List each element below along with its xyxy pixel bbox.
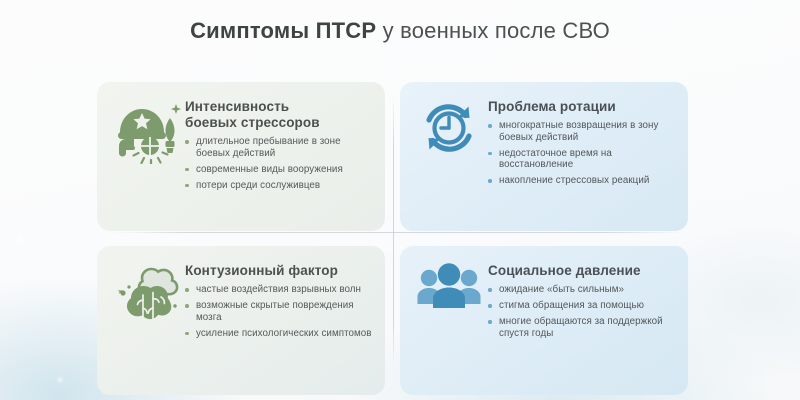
card-concussion[interactable]: Контузионный фактор частые воздействия в… bbox=[97, 246, 385, 395]
list-item: многие обращаются за поддержкой спустя г… bbox=[488, 316, 678, 339]
list-item: усиление психологических симптомов bbox=[185, 328, 375, 340]
card-social-pressure[interactable]: Социальное давление ожидание «быть сильн… bbox=[400, 246, 688, 395]
list-item: ожидание «быть сильным» bbox=[488, 284, 678, 296]
list-item: частые воздействия взрывных волн bbox=[185, 284, 375, 296]
page-title-rest: у военных после СВО bbox=[376, 18, 610, 43]
bullet-list: длительное пребывание в зоне боевых дейс… bbox=[185, 136, 375, 191]
military-helmet-icon bbox=[107, 92, 185, 170]
clock-rotation-icon bbox=[410, 92, 488, 170]
card-title: Интенсивность боевых стрессоров bbox=[185, 99, 375, 131]
card-rotation[interactable]: Проблема ротации многократные возвращени… bbox=[400, 82, 688, 231]
card-body: Контузионный фактор частые воздействия в… bbox=[185, 256, 375, 344]
list-item: многократные возвращения в зону боевых д… bbox=[488, 120, 678, 143]
card-body: Социальное давление ожидание «быть сильн… bbox=[488, 256, 678, 344]
card-body: Интенсивность боевых стрессоров длительн… bbox=[185, 92, 375, 196]
page-title: Симптомы ПТСР у военных после СВО bbox=[0, 18, 800, 44]
bullet-list: частые воздействия взрывных волн возможн… bbox=[185, 284, 375, 339]
card-intensity[interactable]: Интенсивность боевых стрессоров длительн… bbox=[97, 82, 385, 231]
list-item: длительное пребывание в зоне боевых дейс… bbox=[185, 136, 375, 159]
list-item: стигма обращения за помощью bbox=[488, 300, 678, 312]
card-title: Социальное давление bbox=[488, 263, 678, 279]
list-item: потери среди сослуживцев bbox=[185, 180, 375, 192]
list-item: современные виды вооружения bbox=[185, 164, 375, 176]
card-title-line2: боевых стрессоров bbox=[185, 115, 320, 130]
horizontal-divider bbox=[111, 232, 683, 233]
bullet-list: многократные возвращения в зону боевых д… bbox=[488, 120, 678, 187]
list-item: накопление стрессовых реакций bbox=[488, 175, 678, 187]
people-group-icon bbox=[410, 256, 488, 334]
page-title-bold: Симптомы ПТСР bbox=[190, 18, 376, 43]
brain-blast-icon bbox=[107, 256, 185, 334]
cards-grid: Интенсивность боевых стрессоров длительн… bbox=[97, 82, 697, 382]
card-title: Проблема ротации bbox=[488, 99, 678, 115]
card-body: Проблема ротации многократные возвращени… bbox=[488, 92, 678, 191]
bullet-list: ожидание «быть сильным» стигма обращения… bbox=[488, 284, 678, 339]
card-title: Контузионный фактор bbox=[185, 263, 375, 279]
list-item: возможные скрытые повреждения мозга bbox=[185, 300, 375, 323]
slide-canvas: Симптомы ПТСР у военных после СВО bbox=[0, 0, 800, 400]
card-title-line1: Интенсивность bbox=[185, 99, 289, 114]
list-item: недостаточное время на восстановление bbox=[488, 148, 678, 171]
